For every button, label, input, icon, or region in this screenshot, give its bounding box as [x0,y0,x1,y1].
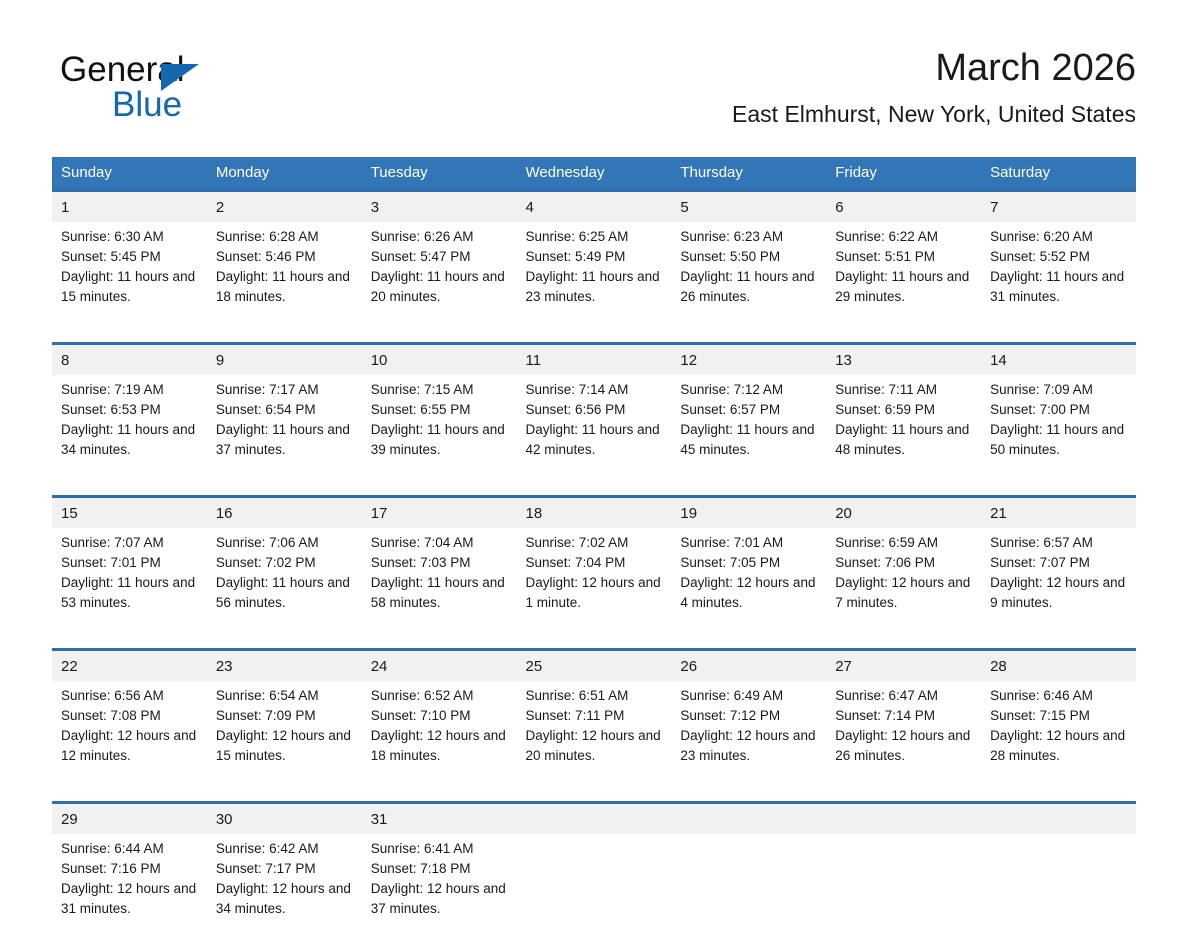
day-cell[interactable]: Sunrise: 6:22 AM Sunset: 5:51 PM Dayligh… [826,222,981,333]
calendar-table: Sunday Monday Tuesday Wednesday Thursday… [52,157,1136,945]
day-number[interactable]: 29 [52,803,207,835]
day-cell[interactable]: Sunrise: 7:14 AM Sunset: 6:56 PM Dayligh… [517,375,672,486]
day-cell-empty [981,834,1136,945]
sunset-text: Sunset: 7:16 PM [61,859,197,879]
sunrise-text: Sunrise: 7:04 AM [371,533,507,553]
sunset-text: Sunset: 5:45 PM [61,247,197,267]
day-cell[interactable]: Sunrise: 6:47 AM Sunset: 7:14 PM Dayligh… [826,681,981,792]
day-number[interactable]: 2 [207,191,362,223]
sunrise-text: Sunrise: 6:42 AM [216,839,352,859]
day-number[interactable]: 4 [517,191,672,223]
sunrise-text: Sunrise: 6:56 AM [61,686,197,706]
day-number[interactable]: 11 [517,344,672,376]
sunrise-text: Sunrise: 7:07 AM [61,533,197,553]
day-number[interactable]: 31 [362,803,517,835]
daylight-text: Daylight: 11 hours and 26 minutes. [680,267,816,307]
title-block: March 2026 East Elmhurst, New York, Unit… [732,44,1136,128]
sunset-text: Sunset: 7:17 PM [216,859,352,879]
sunset-text: Sunset: 7:11 PM [526,706,662,726]
daylight-text: Daylight: 11 hours and 45 minutes. [680,420,816,460]
week-separator [52,639,1136,650]
week-row-daynumbers: 8 9 10 11 12 13 14 [52,344,1136,376]
sunset-text: Sunset: 7:07 PM [990,553,1126,573]
daylight-text: Daylight: 11 hours and 39 minutes. [371,420,507,460]
day-cell-empty [671,834,826,945]
daylight-text: Daylight: 12 hours and 26 minutes. [835,726,971,766]
day-number-empty [517,803,672,835]
day-number[interactable]: 30 [207,803,362,835]
day-number[interactable]: 14 [981,344,1136,376]
sunset-text: Sunset: 7:15 PM [990,706,1126,726]
sunrise-text: Sunrise: 7:17 AM [216,380,352,400]
week-row-details: Sunrise: 6:56 AM Sunset: 7:08 PM Dayligh… [52,681,1136,792]
sunset-text: Sunset: 6:55 PM [371,400,507,420]
daylight-text: Daylight: 11 hours and 20 minutes. [371,267,507,307]
day-cell[interactable]: Sunrise: 6:59 AM Sunset: 7:06 PM Dayligh… [826,528,981,639]
daylight-text: Daylight: 12 hours and 4 minutes. [680,573,816,613]
day-number[interactable]: 9 [207,344,362,376]
daylight-text: Daylight: 11 hours and 18 minutes. [216,267,352,307]
day-cell[interactable]: Sunrise: 6:20 AM Sunset: 5:52 PM Dayligh… [981,222,1136,333]
sunset-text: Sunset: 7:10 PM [371,706,507,726]
sunrise-text: Sunrise: 7:19 AM [61,380,197,400]
day-cell[interactable]: Sunrise: 6:44 AM Sunset: 7:16 PM Dayligh… [52,834,207,945]
sunrise-text: Sunrise: 6:49 AM [680,686,816,706]
week-separator [52,792,1136,803]
day-cell[interactable]: Sunrise: 6:23 AM Sunset: 5:50 PM Dayligh… [671,222,826,333]
day-cell[interactable]: Sunrise: 7:19 AM Sunset: 6:53 PM Dayligh… [52,375,207,486]
sunrise-text: Sunrise: 6:22 AM [835,227,971,247]
day-cell[interactable]: Sunrise: 7:06 AM Sunset: 7:02 PM Dayligh… [207,528,362,639]
calendar-grid: Sunday Monday Tuesday Wednesday Thursday… [52,157,1136,945]
week-row-details: Sunrise: 7:07 AM Sunset: 7:01 PM Dayligh… [52,528,1136,639]
day-cell-empty [826,834,981,945]
day-number[interactable]: 25 [517,650,672,682]
sunset-text: Sunset: 5:51 PM [835,247,971,267]
day-number-empty [671,803,826,835]
day-cell[interactable]: Sunrise: 6:49 AM Sunset: 7:12 PM Dayligh… [671,681,826,792]
sunrise-text: Sunrise: 7:14 AM [526,380,662,400]
day-number[interactable]: 6 [826,191,981,223]
sunset-text: Sunset: 6:57 PM [680,400,816,420]
sunrise-text: Sunrise: 6:25 AM [526,227,662,247]
sunset-text: Sunset: 7:01 PM [61,553,197,573]
sunrise-text: Sunrise: 7:01 AM [680,533,816,553]
day-cell[interactable]: Sunrise: 6:41 AM Sunset: 7:18 PM Dayligh… [362,834,517,945]
day-number-empty [826,803,981,835]
sunset-text: Sunset: 5:47 PM [371,247,507,267]
sunset-text: Sunset: 7:04 PM [526,553,662,573]
sunset-text: Sunset: 5:52 PM [990,247,1126,267]
week-row-daynumbers: 1 2 3 4 5 6 7 [52,191,1136,223]
week-row-daynumbers: 29 30 31 [52,803,1136,835]
day-number[interactable]: 21 [981,497,1136,529]
sunset-text: Sunset: 5:46 PM [216,247,352,267]
sunrise-text: Sunrise: 7:02 AM [526,533,662,553]
sunrise-text: Sunrise: 6:23 AM [680,227,816,247]
day-number[interactable]: 12 [671,344,826,376]
sunrise-text: Sunrise: 6:30 AM [61,227,197,247]
daylight-text: Daylight: 12 hours and 37 minutes. [371,879,507,919]
sunset-text: Sunset: 7:06 PM [835,553,971,573]
day-number[interactable]: 28 [981,650,1136,682]
daylight-text: Daylight: 11 hours and 15 minutes. [61,267,197,307]
page-subtitle: East Elmhurst, New York, United States [732,100,1136,128]
weekday-header-friday: Friday [826,157,981,191]
day-cell[interactable]: Sunrise: 6:46 AM Sunset: 7:15 PM Dayligh… [981,681,1136,792]
daylight-text: Daylight: 12 hours and 34 minutes. [216,879,352,919]
day-cell[interactable]: Sunrise: 7:09 AM Sunset: 7:00 PM Dayligh… [981,375,1136,486]
page-header: General Blue March 2026 East Elmhurst, N… [52,44,1136,144]
sunrise-text: Sunrise: 6:51 AM [526,686,662,706]
day-number[interactable]: 10 [362,344,517,376]
sunset-text: Sunset: 7:18 PM [371,859,507,879]
day-cell[interactable]: Sunrise: 7:01 AM Sunset: 7:05 PM Dayligh… [671,528,826,639]
page-title: March 2026 [732,44,1136,92]
day-cell[interactable]: Sunrise: 6:57 AM Sunset: 7:07 PM Dayligh… [981,528,1136,639]
day-number[interactable]: 24 [362,650,517,682]
calendar-page: General Blue March 2026 East Elmhurst, N… [0,0,1188,918]
sunrise-text: Sunrise: 7:12 AM [680,380,816,400]
day-number-empty [981,803,1136,835]
day-cell[interactable]: Sunrise: 6:52 AM Sunset: 7:10 PM Dayligh… [362,681,517,792]
week-row-details: Sunrise: 6:30 AM Sunset: 5:45 PM Dayligh… [52,222,1136,333]
daylight-text: Daylight: 12 hours and 12 minutes. [61,726,197,766]
sunrise-text: Sunrise: 7:06 AM [216,533,352,553]
daylight-text: Daylight: 12 hours and 15 minutes. [216,726,352,766]
sunset-text: Sunset: 6:53 PM [61,400,197,420]
daylight-text: Daylight: 11 hours and 31 minutes. [990,267,1126,307]
daylight-text: Daylight: 12 hours and 9 minutes. [990,573,1126,613]
day-cell[interactable]: Sunrise: 6:30 AM Sunset: 5:45 PM Dayligh… [52,222,207,333]
daylight-text: Daylight: 11 hours and 58 minutes. [371,573,507,613]
day-number[interactable]: 26 [671,650,826,682]
sunset-text: Sunset: 7:00 PM [990,400,1126,420]
day-number[interactable]: 19 [671,497,826,529]
day-cell[interactable]: Sunrise: 7:15 AM Sunset: 6:55 PM Dayligh… [362,375,517,486]
daylight-text: Daylight: 11 hours and 53 minutes. [61,573,197,613]
sunrise-text: Sunrise: 6:59 AM [835,533,971,553]
weekday-header-tuesday: Tuesday [362,157,517,191]
sunset-text: Sunset: 7:09 PM [216,706,352,726]
week-separator [52,486,1136,497]
day-number[interactable]: 18 [517,497,672,529]
day-number[interactable]: 7 [981,191,1136,223]
daylight-text: Daylight: 12 hours and 7 minutes. [835,573,971,613]
day-number[interactable]: 17 [362,497,517,529]
sunrise-text: Sunrise: 6:44 AM [61,839,197,859]
daylight-text: Daylight: 11 hours and 48 minutes. [835,420,971,460]
day-cell[interactable]: Sunrise: 6:54 AM Sunset: 7:09 PM Dayligh… [207,681,362,792]
daylight-text: Daylight: 12 hours and 18 minutes. [371,726,507,766]
sunrise-text: Sunrise: 6:54 AM [216,686,352,706]
day-cell[interactable]: Sunrise: 6:51 AM Sunset: 7:11 PM Dayligh… [517,681,672,792]
day-cell[interactable]: Sunrise: 7:12 AM Sunset: 6:57 PM Dayligh… [671,375,826,486]
sunset-text: Sunset: 7:03 PM [371,553,507,573]
sunrise-text: Sunrise: 6:57 AM [990,533,1126,553]
daylight-text: Daylight: 12 hours and 23 minutes. [680,726,816,766]
day-cell[interactable]: Sunrise: 6:42 AM Sunset: 7:17 PM Dayligh… [207,834,362,945]
weekday-header-saturday: Saturday [981,157,1136,191]
general-blue-logo: General Blue [60,50,320,136]
day-cell-empty [517,834,672,945]
week-separator [52,333,1136,344]
day-cell[interactable]: Sunrise: 6:28 AM Sunset: 5:46 PM Dayligh… [207,222,362,333]
weekday-header-monday: Monday [207,157,362,191]
sunrise-text: Sunrise: 6:46 AM [990,686,1126,706]
daylight-text: Daylight: 12 hours and 28 minutes. [990,726,1126,766]
day-cell[interactable]: Sunrise: 7:11 AM Sunset: 6:59 PM Dayligh… [826,375,981,486]
daylight-text: Daylight: 12 hours and 31 minutes. [61,879,197,919]
day-number[interactable]: 15 [52,497,207,529]
sunrise-text: Sunrise: 6:26 AM [371,227,507,247]
daylight-text: Daylight: 11 hours and 29 minutes. [835,267,971,307]
day-cell[interactable]: Sunrise: 6:25 AM Sunset: 5:49 PM Dayligh… [517,222,672,333]
week-row-details: Sunrise: 6:44 AM Sunset: 7:16 PM Dayligh… [52,834,1136,945]
day-number[interactable]: 1 [52,191,207,223]
daylight-text: Daylight: 12 hours and 20 minutes. [526,726,662,766]
calendar-header-row: Sunday Monday Tuesday Wednesday Thursday… [52,157,1136,191]
sunset-text: Sunset: 6:54 PM [216,400,352,420]
sunrise-text: Sunrise: 6:28 AM [216,227,352,247]
day-number[interactable]: 3 [362,191,517,223]
sunrise-text: Sunrise: 7:15 AM [371,380,507,400]
day-cell[interactable]: Sunrise: 7:17 AM Sunset: 6:54 PM Dayligh… [207,375,362,486]
day-cell[interactable]: Sunrise: 7:04 AM Sunset: 7:03 PM Dayligh… [362,528,517,639]
daylight-text: Daylight: 11 hours and 23 minutes. [526,267,662,307]
sunset-text: Sunset: 7:14 PM [835,706,971,726]
week-row-daynumbers: 22 23 24 25 26 27 28 [52,650,1136,682]
weekday-header-thursday: Thursday [671,157,826,191]
day-number[interactable]: 5 [671,191,826,223]
day-number[interactable]: 16 [207,497,362,529]
day-number[interactable]: 27 [826,650,981,682]
sunset-text: Sunset: 5:50 PM [680,247,816,267]
sunrise-text: Sunrise: 6:41 AM [371,839,507,859]
day-number[interactable]: 8 [52,344,207,376]
day-cell[interactable]: Sunrise: 6:26 AM Sunset: 5:47 PM Dayligh… [362,222,517,333]
daylight-text: Daylight: 11 hours and 34 minutes. [61,420,197,460]
daylight-text: Daylight: 11 hours and 37 minutes. [216,420,352,460]
weekday-header-sunday: Sunday [52,157,207,191]
week-row-daynumbers: 15 16 17 18 19 20 21 [52,497,1136,529]
day-number[interactable]: 23 [207,650,362,682]
daylight-text: Daylight: 12 hours and 1 minute. [526,573,662,613]
sunset-text: Sunset: 7:05 PM [680,553,816,573]
day-cell[interactable]: Sunrise: 7:02 AM Sunset: 7:04 PM Dayligh… [517,528,672,639]
daylight-text: Daylight: 11 hours and 56 minutes. [216,573,352,613]
sunset-text: Sunset: 7:02 PM [216,553,352,573]
logo-text-blue: Blue [112,85,182,125]
day-cell[interactable]: Sunrise: 7:07 AM Sunset: 7:01 PM Dayligh… [52,528,207,639]
day-number[interactable]: 22 [52,650,207,682]
sunset-text: Sunset: 7:08 PM [61,706,197,726]
day-cell[interactable]: Sunrise: 6:56 AM Sunset: 7:08 PM Dayligh… [52,681,207,792]
day-number[interactable]: 13 [826,344,981,376]
week-row-details: Sunrise: 7:19 AM Sunset: 6:53 PM Dayligh… [52,375,1136,486]
sunset-text: Sunset: 6:59 PM [835,400,971,420]
sunrise-text: Sunrise: 7:11 AM [835,380,971,400]
daylight-text: Daylight: 11 hours and 50 minutes. [990,420,1126,460]
sunset-text: Sunset: 7:12 PM [680,706,816,726]
weekday-header-wednesday: Wednesday [517,157,672,191]
sunrise-text: Sunrise: 6:20 AM [990,227,1126,247]
day-number[interactable]: 20 [826,497,981,529]
sunrise-text: Sunrise: 6:52 AM [371,686,507,706]
sunset-text: Sunset: 6:56 PM [526,400,662,420]
sunset-text: Sunset: 5:49 PM [526,247,662,267]
sunrise-text: Sunrise: 6:47 AM [835,686,971,706]
calendar-body: 1 2 3 4 5 6 7 Sunrise: 6:30 AM Sunset: 5… [52,191,1136,945]
sunrise-text: Sunrise: 7:09 AM [990,380,1126,400]
daylight-text: Daylight: 11 hours and 42 minutes. [526,420,662,460]
